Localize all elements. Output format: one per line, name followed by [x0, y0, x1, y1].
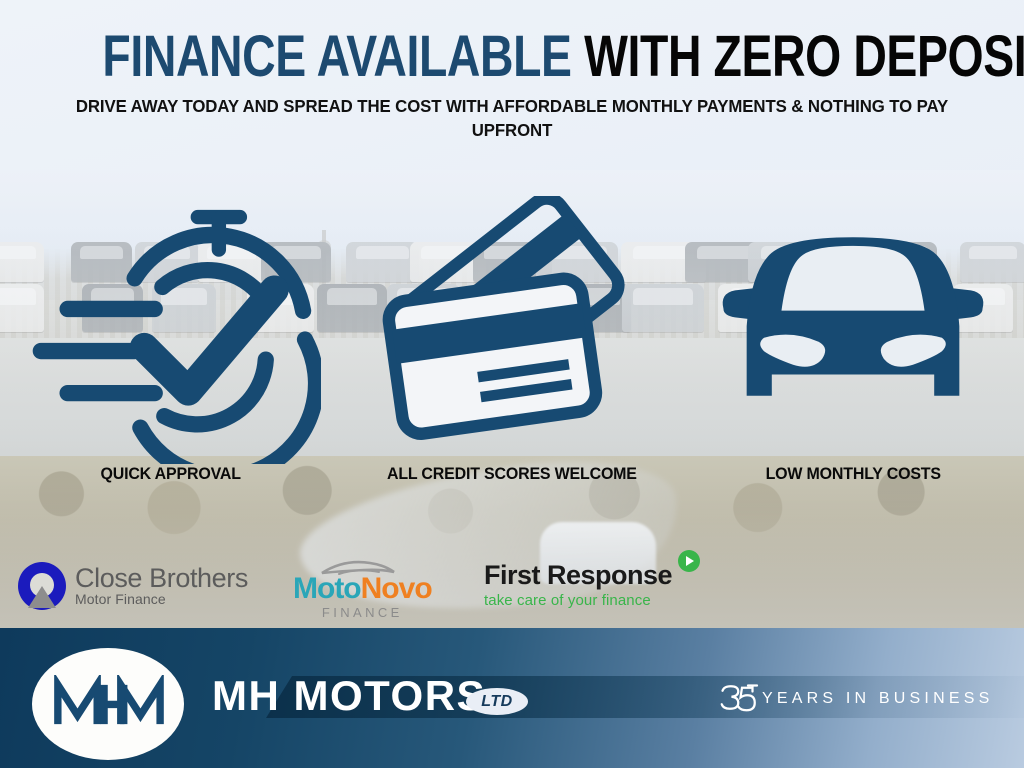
lender-first-response: First Response take care of your finance: [484, 562, 700, 609]
feature-label: QUICK APPROVAL: [101, 464, 241, 484]
page-subheadline: DRIVE AWAY TODAY AND SPREAD THE COST WIT…: [42, 94, 983, 142]
lender-name: First Response: [484, 562, 672, 589]
ltd-badge: LTD: [466, 688, 528, 715]
headline-dark-part: WITH ZERO DEPOSIT: [584, 24, 1024, 89]
green-play-icon: [678, 550, 700, 572]
brand-name: MH MOTORS: [212, 672, 486, 720]
page-headline: FINANCE AVAILABLE WITH ZERO DEPOSIT: [102, 0, 921, 86]
feature-all-credit-scores: ALL CREDIT SCORES WELCOME: [341, 196, 682, 526]
feature-quick-approval: QUICK APPROVAL: [0, 196, 341, 526]
feature-list: QUICK APPROVAL: [0, 196, 1024, 526]
feature-label: ALL CREDIT SCORES WELCOME: [387, 464, 637, 484]
mhm-logo-mark[interactable]: [32, 648, 184, 760]
years-in-business: YEARS IN BUSINESS: [718, 683, 993, 715]
feature-low-monthly-costs: LOW MONTHLY COSTS: [683, 196, 1024, 526]
motonovo-part-2: Novo: [361, 572, 432, 605]
years-label: YEARS IN BUSINESS: [762, 690, 993, 708]
banner-canvas: FINANCE AVAILABLE WITH ZERO DEPOSIT DRIV…: [0, 0, 1024, 768]
lender-name: Close Brothers: [75, 565, 248, 593]
ltd-badge-label: LTD: [481, 693, 512, 711]
thirty-five-numeral-icon: [718, 683, 760, 715]
header: FINANCE AVAILABLE WITH ZERO DEPOSIT DRIV…: [0, 0, 1024, 142]
stopwatch-check-icon: [21, 196, 321, 464]
lender-name: MotoNovo: [293, 574, 432, 604]
lender-close-brothers: Close Brothers Motor Finance: [18, 562, 248, 610]
lender-tagline: take care of your finance: [484, 592, 651, 609]
motonovo-part-1: Moto: [293, 572, 361, 605]
headline-blue-part: FINANCE AVAILABLE: [102, 24, 571, 89]
lender-logo-row: Close Brothers Motor Finance MotoNovo FI…: [0, 556, 1024, 626]
lender-tagline: FINANCE: [322, 605, 403, 620]
car-front-icon: [708, 196, 998, 464]
circle-mountain-icon: [18, 562, 66, 610]
feature-label: LOW MONTHLY COSTS: [766, 464, 941, 484]
lender-motonovo: MotoNovo FINANCE: [293, 560, 432, 620]
lender-tagline: Motor Finance: [75, 592, 248, 607]
mhm-monogram-icon: [49, 675, 167, 733]
credit-cards-icon: [362, 196, 662, 464]
